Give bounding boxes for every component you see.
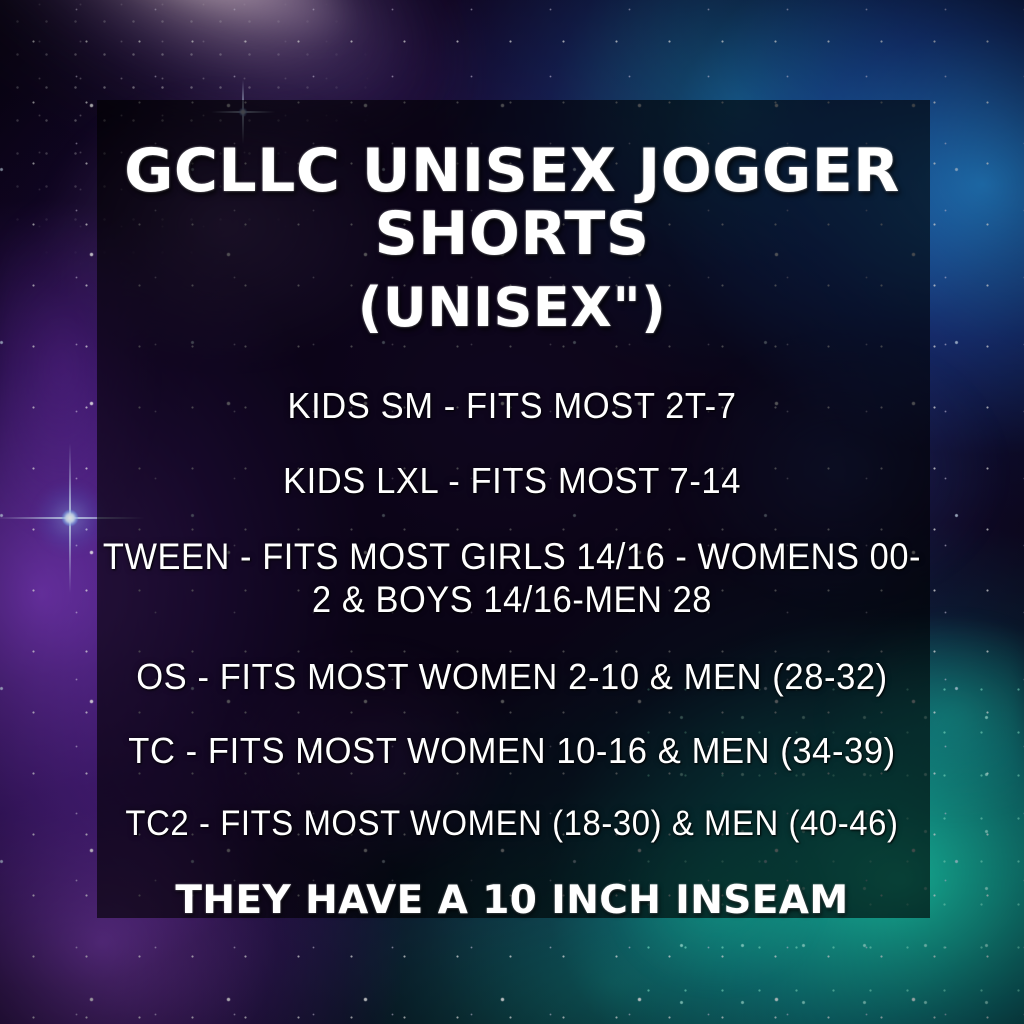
size-line-kids-lxl: KIDS LXL - FITS MOST 7-14 (80, 460, 944, 502)
inseam-note: THEY HAVE A 10 INCH INSEAM (62, 878, 962, 923)
size-line-kids-sm: KIDS SM - FITS MOST 2T-7 (80, 385, 944, 427)
poster-title: GCLLC UNISEX JOGGER SHORTS (62, 140, 962, 266)
poster-content: GCLLC UNISEX JOGGER SHORTS (UNISEX") KID… (0, 0, 1024, 1024)
size-line-os: OS - FITS MOST WOMEN 2-10 & MEN (28-32) (80, 656, 944, 698)
sizing-chart-poster: GCLLC UNISEX JOGGER SHORTS (UNISEX") KID… (0, 0, 1024, 1024)
poster-subtitle: (UNISEX") (62, 280, 962, 337)
size-line-tc2: TC2 - FITS MOST WOMEN (18-30) & MEN (40-… (89, 804, 935, 845)
size-line-tc: TC - FITS MOST WOMEN 10-16 & MEN (34-39) (80, 730, 944, 772)
size-line-tween: TWEEN - FITS MOST GIRLS 14/16 - WOMENS 0… (94, 536, 931, 622)
